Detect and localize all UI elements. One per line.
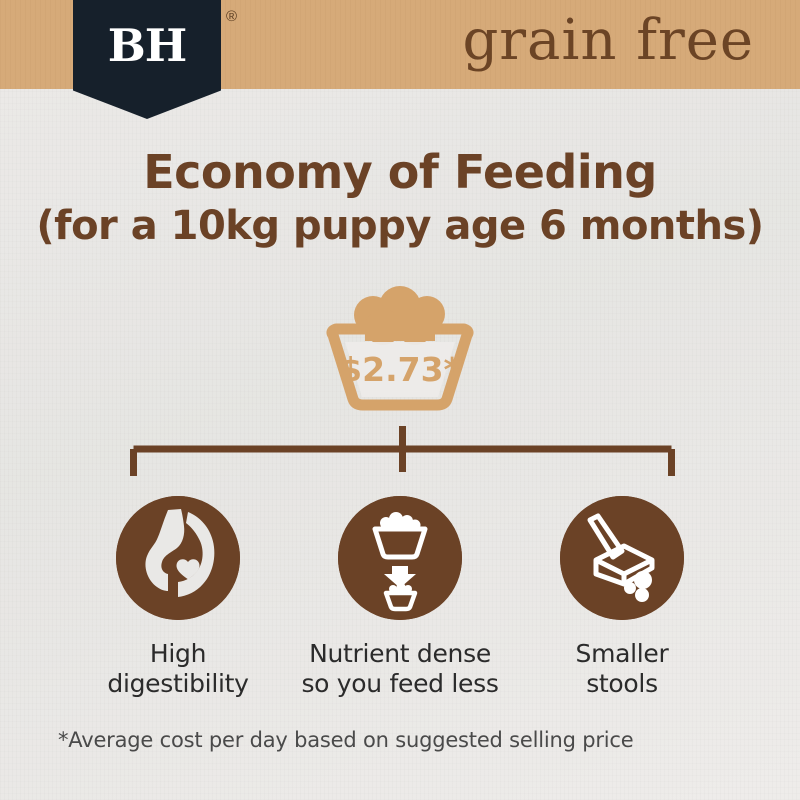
stomach-heart-icon [116,496,240,620]
benefit-icon-circle [116,496,240,620]
two-bowls-arrow-icon [338,496,462,620]
connector-lines-icon [130,424,675,500]
benefit-item-high-digestibility: High digestibility [78,496,278,698]
benefits-row: High digestibility [0,496,800,698]
connector-tree [130,424,675,500]
brand-logo-shield: BH [73,0,221,119]
cost-per-day-value: $2.73* [305,350,495,389]
registered-trademark-icon: ® [226,8,237,25]
benefit-label: High digestibility [107,639,248,698]
benefit-label: Smaller stools [576,639,669,698]
page-title: Economy of Feeding [0,148,800,198]
brand-logo-text: BH [108,23,187,68]
benefit-label: Nutrient dense so you feed less [301,639,498,698]
page-subtitle: (for a 10kg puppy age 6 months) [0,204,800,248]
economy-of-feeding-infographic: BH ® grain free Economy of Feeding (for … [0,0,800,800]
footnote-text: *Average cost per day based on suggested… [58,728,634,752]
title-block: Economy of Feeding (for a 10kg puppy age… [0,148,800,248]
benefit-item-smaller-stools: Smaller stools [522,496,722,698]
benefit-icon-circle [560,496,684,620]
benefit-icon-circle [338,496,462,620]
pooper-scooper-icon [560,496,684,620]
benefit-item-nutrient-dense: Nutrient dense so you feed less [300,496,500,698]
cost-bowl-group: $2.73* [305,283,495,423]
grain-free-tagline: grain free [462,8,754,73]
